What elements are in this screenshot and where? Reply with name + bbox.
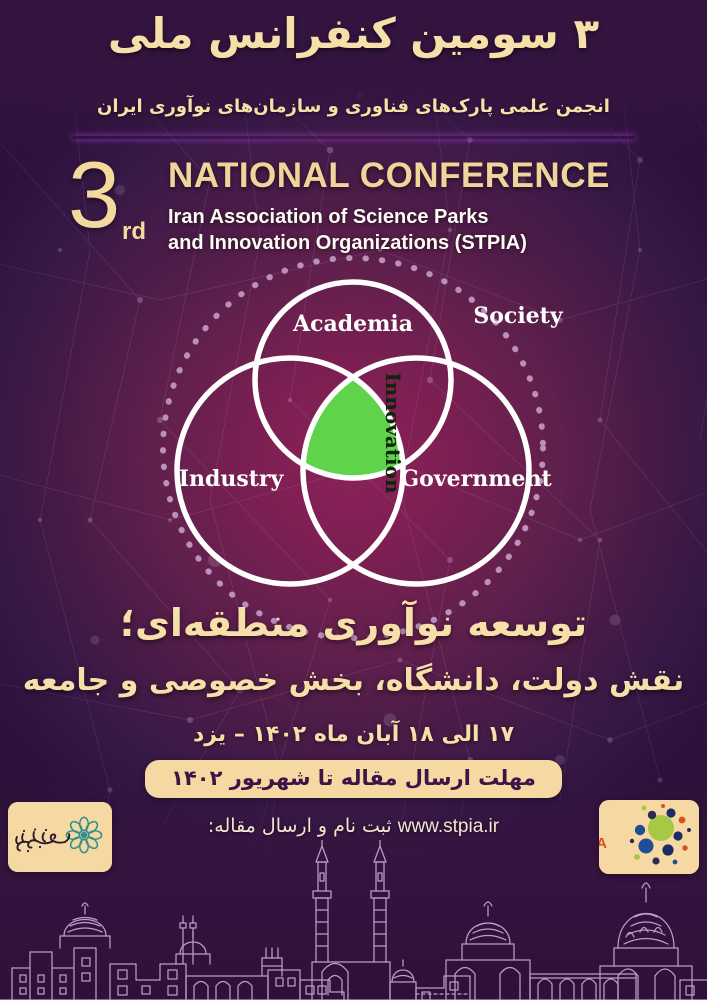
venn-label-government: Government — [400, 466, 552, 492]
conference-title-fa: ۳ سومین کنفرانس ملی — [0, 8, 707, 61]
website-url[interactable]: www.stpia.ir — [398, 816, 499, 838]
conference-date-location: ۱۷ الی ۱۸ آبان ماه ۱۴۰۲ – یزد — [0, 722, 707, 747]
paper-deadline-badge: مهلت ارسال مقاله تا شهریور ۱۴۰۲ — [145, 760, 562, 798]
ordinal-suffix: rd — [122, 218, 146, 246]
venn-label-academia: Academia — [292, 311, 413, 337]
conference-poster: ۳ سومین کنفرانس ملی انجمن علمی پارک‌های … — [0, 0, 707, 1000]
venn-label-industry: Industry — [179, 466, 285, 492]
header-divider — [72, 136, 635, 139]
english-title-block: 3 rd NATIONAL CONFERENCE Iran Associatio… — [0, 152, 707, 264]
poster-header: ۳ سومین کنفرانس ملی انجمن علمی پارک‌های … — [0, 0, 707, 148]
deadline-badge-wrapper: مهلت ارسال مقاله تا شهریور ۱۴۰۲ — [0, 760, 707, 798]
ordinal-number: 3 — [68, 148, 120, 242]
association-name-fa: انجمن علمی پارک‌های فناوری و سازمان‌های … — [0, 96, 707, 117]
association-name-en-line1: Iran Association of Science Parks — [168, 206, 489, 228]
conference-title-en: NATIONAL CONFERENCE — [168, 156, 610, 196]
venn-label-innovation: Innovation — [381, 372, 405, 494]
theme-title-line2: نقش دولت، دانشگاه، بخش خصوصی و جامعه — [0, 663, 707, 698]
registration-label: ثبت نام و ارسال مقاله: — [208, 815, 392, 837]
yazd-skyline-illustration — [0, 840, 707, 1000]
venn-diagram: Academia Society Industry Government Inn… — [118, 268, 588, 598]
association-name-en: Iran Association of Science Parks and In… — [168, 204, 527, 257]
theme-title-line1: توسعه نوآوری منطقه‌ای؛ — [0, 601, 707, 645]
association-name-en-line2: and Innovation Organizations (STPIA) — [168, 232, 527, 254]
venn-label-society: Society — [473, 303, 563, 329]
